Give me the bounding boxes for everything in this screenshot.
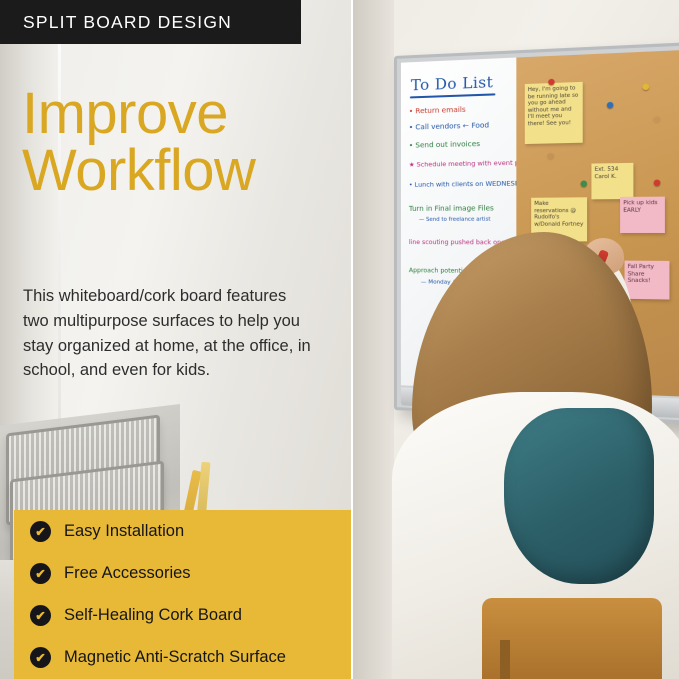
feature-list: ✔ Easy Installation ✔ Free Accessories ✔… [14,510,367,679]
sticky-note: Fall Party Share Snacks! [624,261,669,300]
check-circle-icon: ✔ [30,605,51,626]
feature-label: Easy Installation [64,522,184,541]
whiteboard-title-underline [410,93,496,98]
list-item: ✔ Magnetic Anti-Scratch Surface [14,636,367,678]
whiteboard-line: • Call vendors ← Food [409,120,489,131]
feature-label: Magnetic Anti-Scratch Surface [64,648,286,667]
ribbon-title: SPLIT BOARD DESIGN [0,12,232,33]
sticky-note: Ext. 534 Carol K. [591,163,633,200]
check-circle-icon: ✔ [30,647,51,668]
pin-icon [642,84,649,91]
sticky-note: Pick up kids EARLY [620,197,665,233]
pin-icon [607,102,614,109]
photo-wall-shadow [352,0,394,679]
feature-label: Self-Healing Cork Board [64,606,242,625]
whiteboard-title: To Do List [411,73,493,94]
list-item: ✔ Self-Healing Cork Board [14,594,367,636]
whiteboard-line: • Return emails [409,105,466,116]
headline-line-2: Workflow [22,143,352,200]
ribbon-banner: SPLIT BOARD DESIGN [0,0,301,44]
whiteboard-line: — Send to freelance artist [419,217,491,223]
page-title: Improve Workflow [22,86,352,200]
whiteboard-line: Turn in Final image Files [409,204,494,213]
body-description: This whiteboard/cork board features two … [23,284,313,383]
sticky-note: Hey, I'm going to be running late so you… [525,82,583,144]
person-scarf [504,408,654,584]
pin-icon [580,180,587,186]
pin-icon [548,79,554,85]
list-item: ✔ Free Accessories [14,552,367,594]
feature-label: Free Accessories [64,564,191,583]
panel-divider [351,0,353,679]
product-infographic: SPLIT BOARD DESIGN Improve Workflow This… [0,0,679,679]
whiteboard-line: • Lunch with clients on WEDNESDAY [409,179,528,189]
pin-icon [653,179,660,186]
check-circle-icon: ✔ [30,563,51,584]
list-item: ✔ Easy Installation [14,510,367,552]
lifestyle-photo: To Do List • Return emails • Call vendor… [352,0,679,679]
whiteboard-line: • Send out invoices [409,139,480,150]
check-circle-icon: ✔ [30,521,51,542]
headline-line-1: Improve [22,86,352,143]
chair-leg [500,640,510,679]
